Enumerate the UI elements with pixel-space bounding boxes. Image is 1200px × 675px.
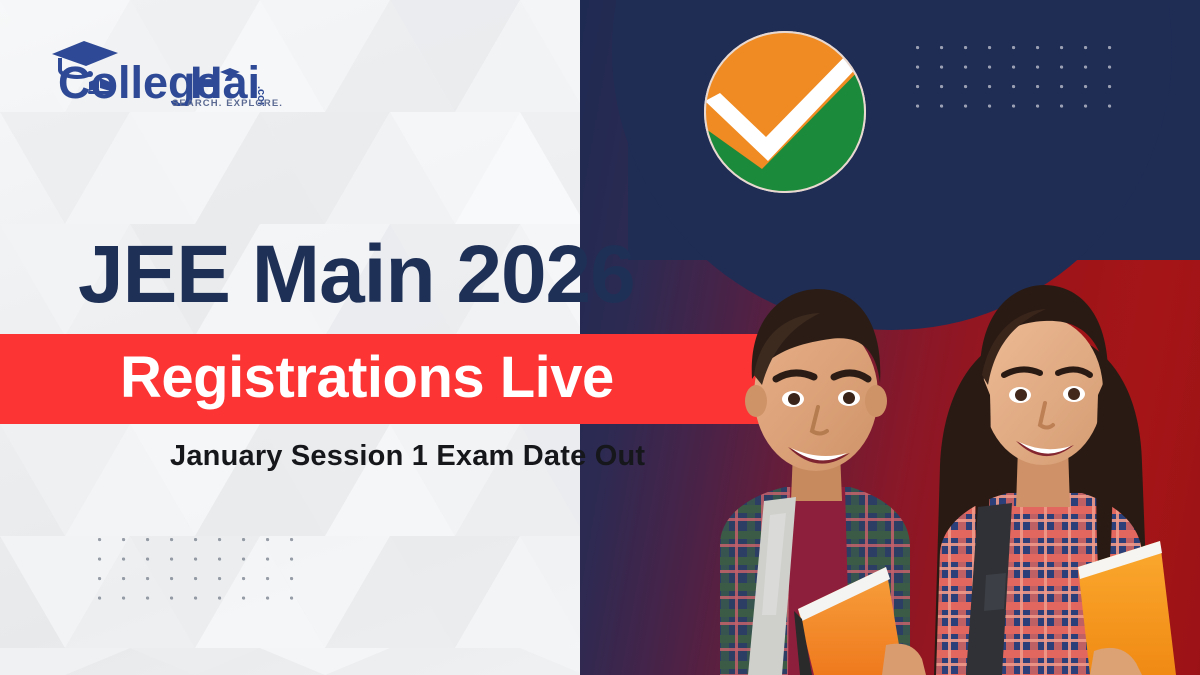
student-left (720, 289, 926, 675)
collegehai-logo[interactable]: College Hai .com SEARCH. EXPLORE. DISCOV… (44, 36, 284, 106)
dot-grid-bottom-left (98, 538, 294, 616)
dot-grid-top-right (916, 46, 1112, 124)
subtitle: January Session 1 Exam Date Out (170, 442, 645, 471)
highlight-label: Registrations Live (120, 349, 614, 407)
student-right (934, 285, 1176, 675)
jee-main-2026-banner: College Hai .com SEARCH. EXPLORE. DISCOV… (0, 0, 1200, 675)
page-title: JEE Main 2026 (78, 234, 635, 316)
nta-check-badge (702, 29, 868, 195)
logo-tagline: SEARCH. EXPLORE. DISCOVER (172, 98, 284, 106)
two-students-photo (690, 215, 1200, 675)
